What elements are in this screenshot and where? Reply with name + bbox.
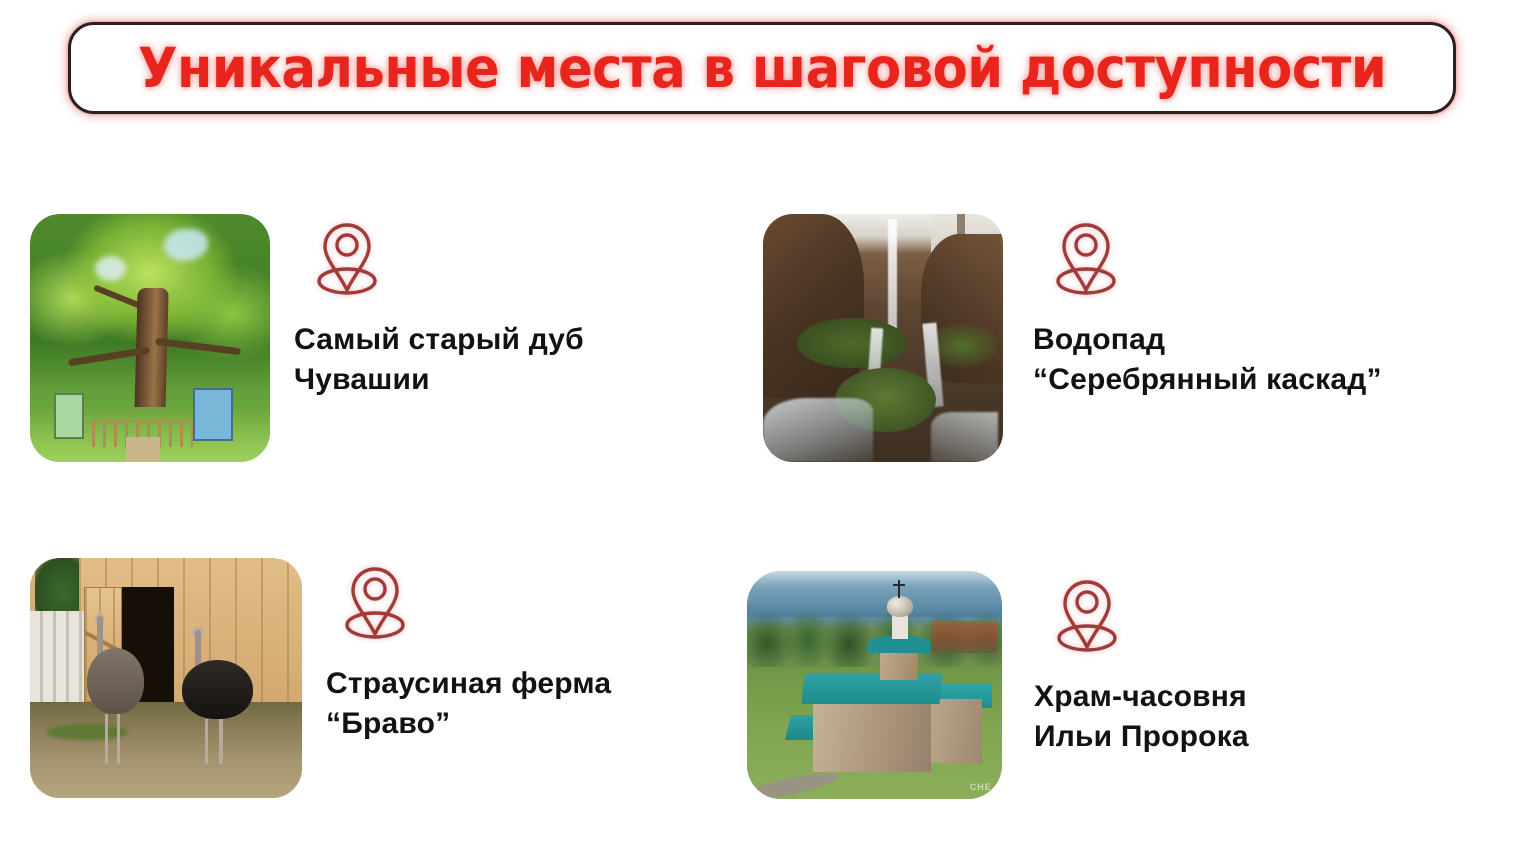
info-board-left	[54, 393, 84, 439]
photo-watermark: CHE	[970, 782, 992, 792]
chapel-nave	[813, 694, 930, 772]
place-caption-column: Храм-часовня Ильи Пророка	[1034, 571, 1249, 757]
map-pin-icon	[1056, 577, 1118, 655]
map-pin-icon	[344, 564, 406, 642]
place-item-chapel[interactable]: CHE Храм-часовня Ильи Пророка	[747, 571, 1249, 799]
place-caption-column: Водопад “Серебрянный каскад”	[1033, 214, 1382, 400]
place-item-waterfall[interactable]: Водопад “Серебрянный каскад”	[763, 214, 1382, 462]
page-title: Уникальные места в шаговой доступности	[138, 41, 1386, 96]
water-pool-left	[763, 398, 873, 462]
ostrich-leg	[219, 719, 223, 765]
ostrich-grey	[87, 616, 144, 765]
ostrich-leg	[117, 714, 120, 765]
ostrich-black	[182, 630, 253, 764]
moss-patch-upper	[797, 318, 907, 368]
places-grid: Самый старый дуб Чувашии Водопад “Сереб	[0, 186, 1529, 846]
chapel-dome	[887, 596, 913, 617]
map-pin-icon	[316, 220, 378, 298]
info-board-right	[193, 388, 233, 442]
rock-face-left	[763, 214, 864, 398]
chapel-apse	[926, 699, 982, 763]
chapel-nave-roof	[802, 674, 943, 704]
place-caption-column: Самый старый дуб Чувашии	[294, 214, 584, 400]
waterfall-upper-stream	[888, 219, 898, 328]
sky-patch	[164, 229, 207, 261]
footpath	[126, 437, 160, 462]
ostrich-leg	[105, 714, 108, 765]
ostrich-leg	[205, 719, 209, 765]
chapel-drum	[880, 649, 918, 681]
place-caption-column: Страусиная ферма “Браво”	[326, 558, 611, 744]
sky-patch-secondary	[95, 256, 126, 281]
place-caption: Храм-часовня Ильи Пророка	[1034, 677, 1249, 757]
map-pin-icon	[1055, 220, 1117, 298]
dirt-ground	[30, 702, 302, 798]
place-caption: Страусиная ферма “Браво”	[326, 664, 611, 744]
picket-fence	[30, 611, 84, 702]
place-photo-ostrich-farm	[30, 558, 302, 798]
chapel-cross	[898, 580, 900, 598]
place-photo-old-oak	[30, 214, 270, 462]
place-photo-waterfall	[763, 214, 1003, 462]
place-caption: Водопад “Серебрянный каскад”	[1033, 320, 1382, 400]
place-item-old-oak[interactable]: Самый старый дуб Чувашии	[30, 214, 584, 462]
village-houses	[931, 621, 997, 653]
place-item-ostrich-farm[interactable]: Страусиная ферма “Браво”	[30, 558, 611, 798]
place-caption: Самый старый дуб Чувашии	[294, 320, 584, 400]
ostrich-body	[182, 660, 253, 719]
page-title-banner: Уникальные места в шаговой доступности	[68, 22, 1456, 114]
place-photo-chapel: CHE	[747, 571, 1002, 799]
oak-branch-right	[155, 338, 242, 355]
water-pool-right	[931, 412, 998, 462]
ostrich-body	[87, 648, 144, 713]
